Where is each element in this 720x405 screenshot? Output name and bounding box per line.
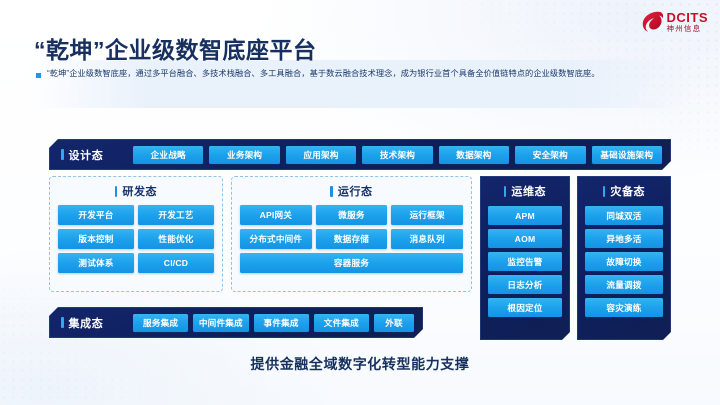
integration-layer-row: 集成态 服务集成 中间件集成 事件集成 文件集成 外联 [49,307,423,338]
brand-logo: DCITS 神州信息 [641,10,709,34]
label-tick-icon [504,186,507,197]
runtime-tile[interactable]: 分布式中间件 [240,229,312,249]
label-tick-icon [61,317,64,328]
rd-tile[interactable]: 版本控制 [58,229,134,249]
design-tile[interactable]: 企业战略 [133,146,203,164]
rd-layer-card: 研发态 开发平台 开发工艺 版本控制 性能优化 测试体系 CI/CD [49,176,223,292]
design-tile[interactable]: 数据架构 [439,146,509,164]
rd-layer-label: 研发态 [58,183,214,199]
page-title: “乾坤”企业级数智底座平台 [34,31,317,65]
label-tick-icon [61,149,64,160]
background-dot-pattern-bottom-left [0,285,210,405]
brand-name-en: DCITS [667,11,709,24]
middle-layers: 研发态 开发平台 开发工艺 版本控制 性能优化 测试体系 CI/CD 运行态 A… [49,176,671,302]
design-layer-label-text: 设计态 [69,147,104,163]
runtime-tile[interactable]: API网关 [240,205,312,225]
integration-tile[interactable]: 事件集成 [254,314,309,332]
square-bullet-icon [36,73,41,78]
integration-layer-tiles: 服务集成 中间件集成 事件集成 文件集成 外联 [133,314,414,332]
runtime-tile[interactable]: 运行框架 [391,205,463,225]
ops-layer-panel: 运维态 APM AOM 监控告警 日志分析 根因定位 [480,176,570,340]
ops-tile[interactable]: 日志分析 [488,275,562,294]
ops-layer-label-text: 运维态 [511,183,546,199]
integration-tile[interactable]: 文件集成 [314,314,369,332]
subtitle-text: “乾坤”企业级数智底座，通过多平台融合、多技术栈融合、多工具融合，基于数云融合技… [47,69,600,80]
dr-tile[interactable]: 故障切换 [585,252,663,271]
label-tick-icon [603,186,606,197]
dr-tile[interactable]: 流量调拨 [585,275,663,294]
dr-tile[interactable]: 容灾演练 [585,298,663,317]
ops-tile[interactable]: 监控告警 [488,252,562,271]
rd-layer-tiles: 开发平台 开发工艺 版本控制 性能优化 测试体系 CI/CD [58,205,214,273]
label-tick-icon [115,186,118,197]
dr-tile[interactable]: 异地多活 [585,229,663,248]
dr-layer-panel: 灾备态 同城双活 异地多活 故障切换 流量调拨 容灾演练 [577,176,671,340]
dcits-swoosh-icon [641,10,663,34]
integration-tile[interactable]: 外联 [374,314,414,332]
integration-layer-label-text: 集成态 [69,315,104,331]
design-tile[interactable]: 技术架构 [362,146,432,164]
design-tile[interactable]: 业务架构 [209,146,279,164]
runtime-tile[interactable]: 消息队列 [391,229,463,249]
runtime-tile[interactable]: 微服务 [316,205,388,225]
design-tile[interactable]: 安全架构 [515,146,585,164]
ops-layer-label: 运维态 [488,183,562,199]
ops-tile[interactable]: AOM [488,229,562,248]
label-tick-icon [330,186,333,197]
integration-tile[interactable]: 服务集成 [133,314,188,332]
design-layer-label: 设计态 [61,147,127,163]
ops-tile[interactable]: 根因定位 [488,298,562,317]
runtime-layer-label: 运行态 [240,183,463,199]
rd-tile[interactable]: 开发工艺 [138,205,214,225]
design-layer-row: 设计态 企业战略 业务架构 应用架构 技术架构 数据架构 安全架构 基础设施架构 [49,139,671,170]
integration-layer-label: 集成态 [61,315,127,331]
rd-tile[interactable]: 测试体系 [58,253,134,273]
subtitle-row: “乾坤”企业级数智底座，通过多平台融合、多技术栈融合、多工具融合，基于数云融合技… [36,69,600,80]
design-tile[interactable]: 基础设施架构 [592,146,662,164]
runtime-layer-label-text: 运行态 [338,183,373,199]
ops-tile[interactable]: APM [488,206,562,225]
rd-layer-label-text: 研发态 [122,183,157,199]
runtime-layer-tiles: API网关 微服务 运行框架 分布式中间件 数据存储 消息队列 容器服务 [240,205,463,273]
rd-tile[interactable]: 开发平台 [58,205,134,225]
rd-tile[interactable]: 性能优化 [138,229,214,249]
dr-tile[interactable]: 同城双活 [585,206,663,225]
runtime-layer-card: 运行态 API网关 微服务 运行框架 分布式中间件 数据存储 消息队列 容器服务 [231,176,472,292]
integration-tile[interactable]: 中间件集成 [193,314,248,332]
rd-tile[interactable]: CI/CD [138,253,214,273]
design-layer-tiles: 企业战略 业务架构 应用架构 技术架构 数据架构 安全架构 基础设施架构 [133,146,662,164]
design-tile[interactable]: 应用架构 [286,146,356,164]
footer-caption: 提供金融全域数字化转型能力支撑 [0,354,720,374]
dr-layer-label-text: 灾备态 [610,183,645,199]
dr-layer-label: 灾备态 [585,183,663,199]
runtime-tile[interactable]: 数据存储 [316,229,388,249]
brand-name-cn: 神州信息 [667,25,709,33]
runtime-tile-container-service[interactable]: 容器服务 [240,253,463,273]
